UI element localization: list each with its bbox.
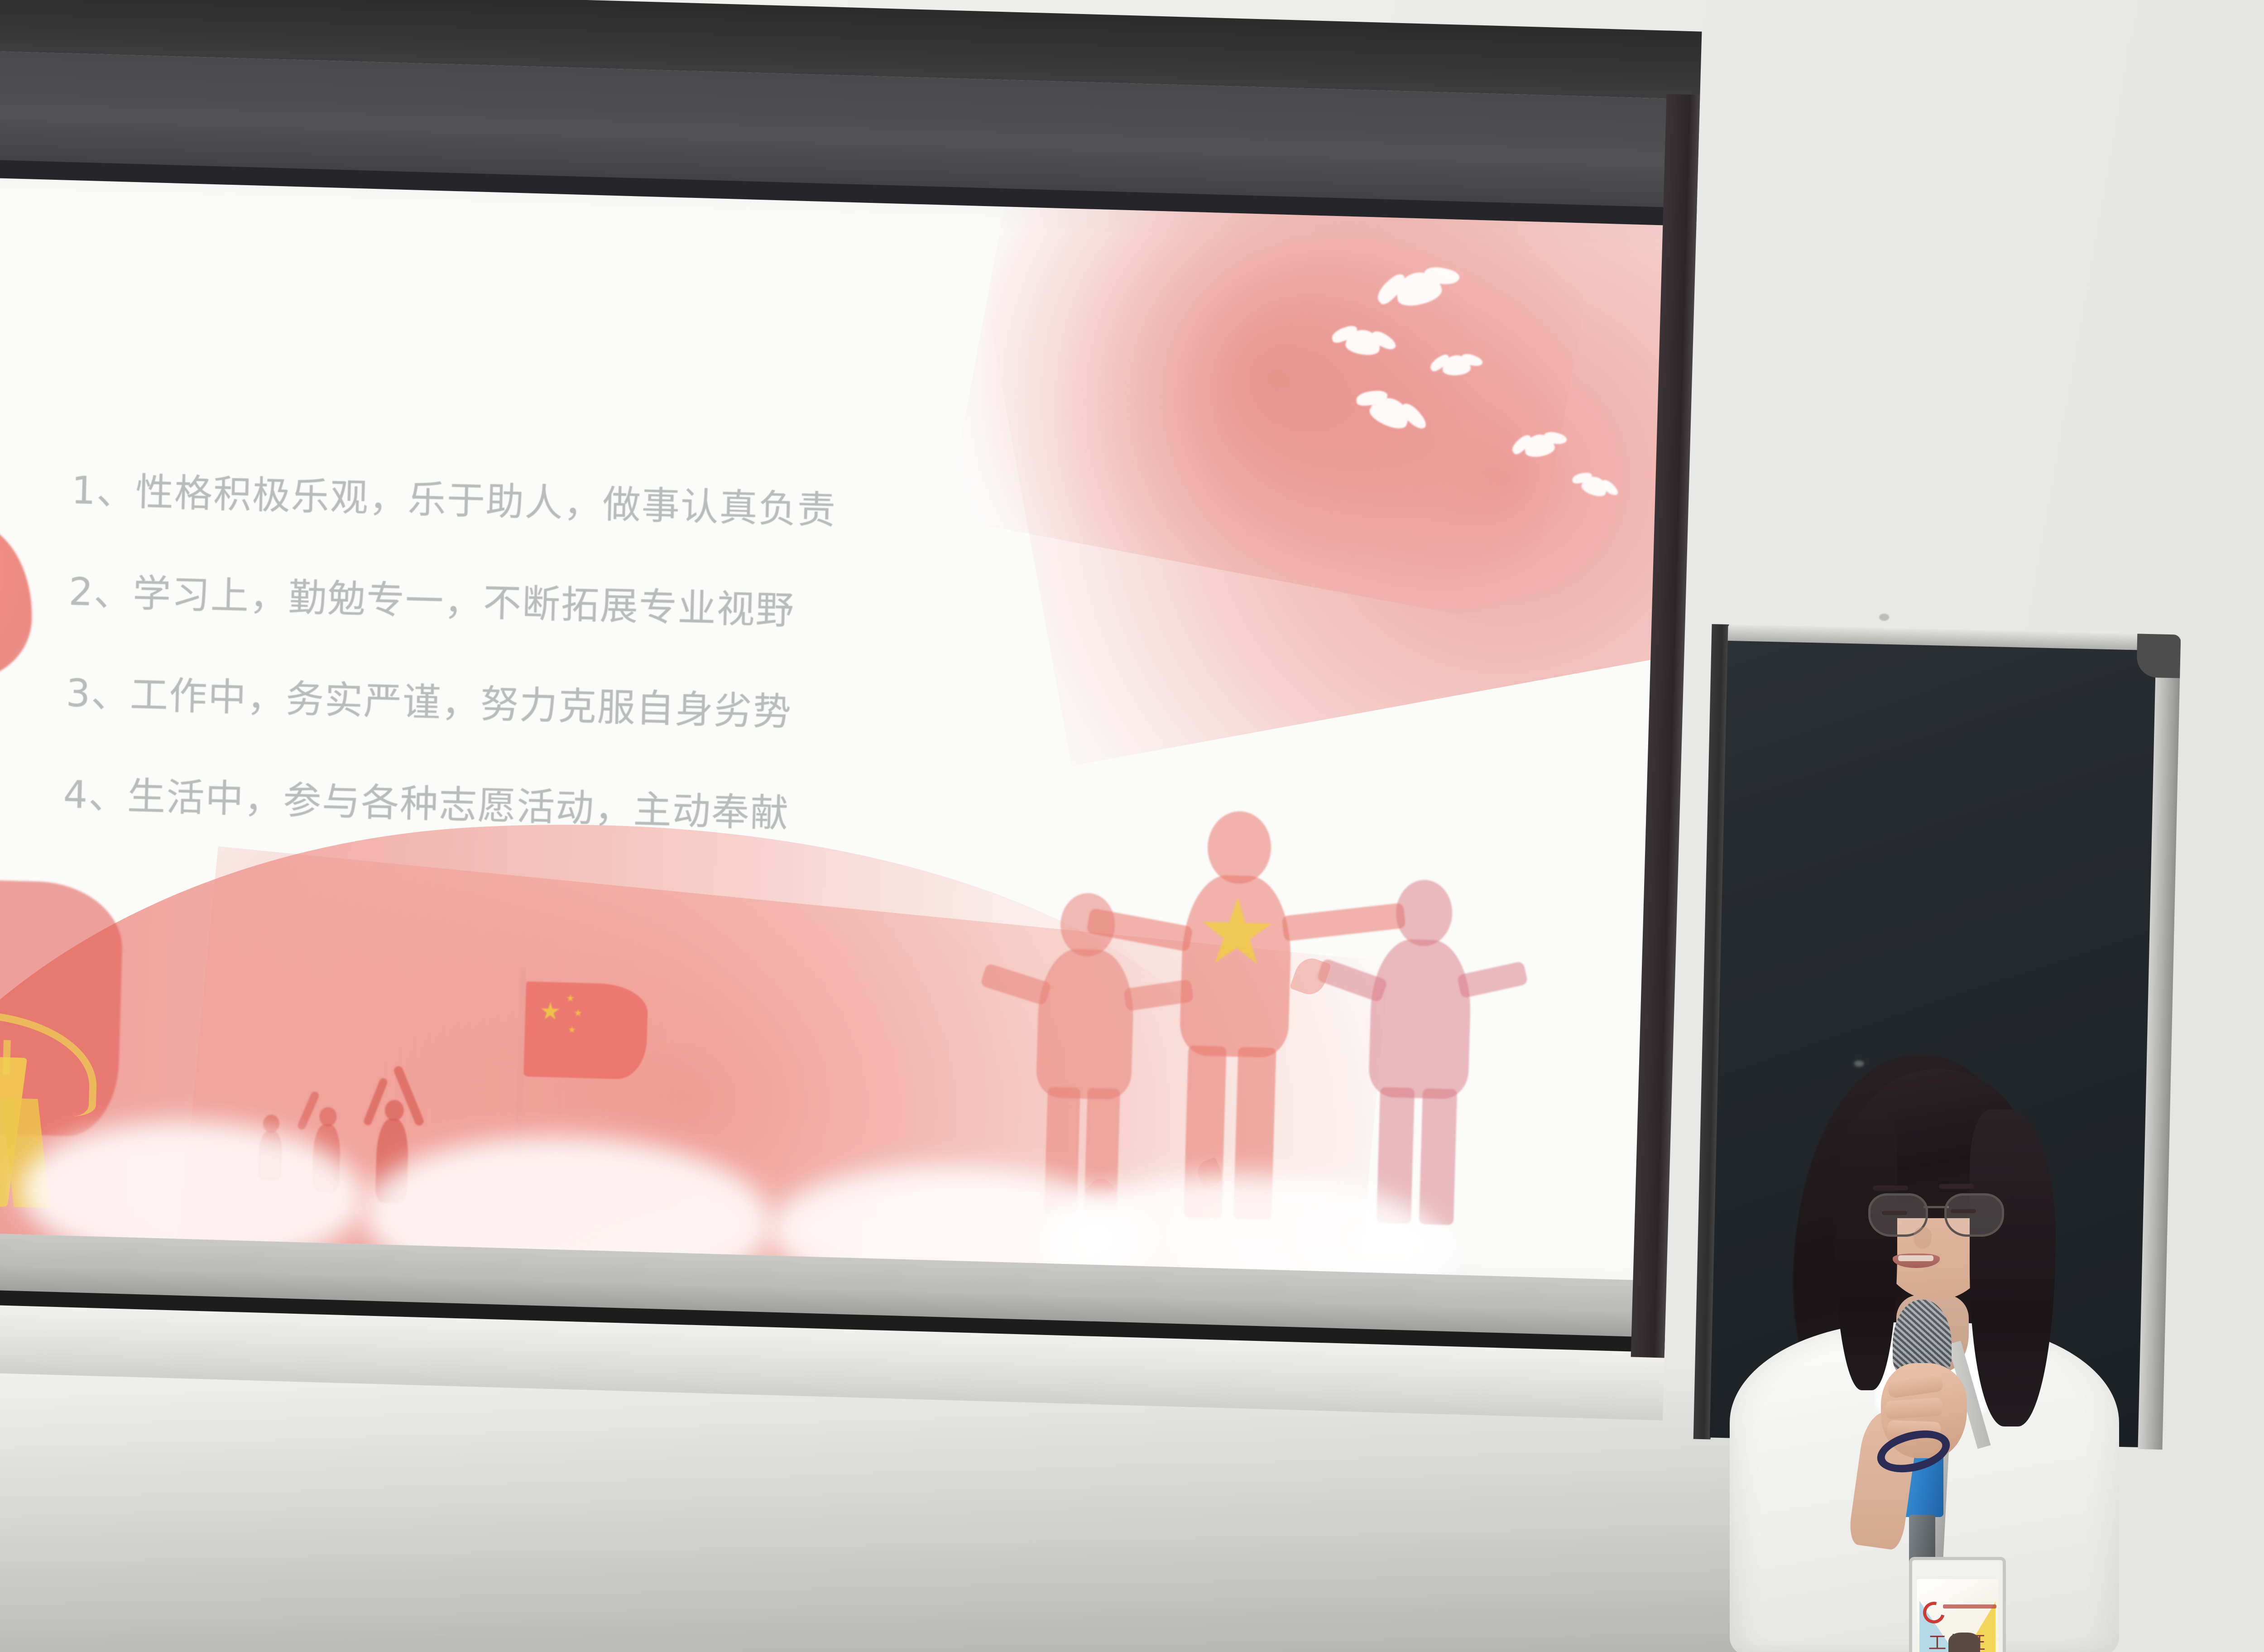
presenter-teeth bbox=[1898, 1255, 1933, 1261]
presenter-eye-left bbox=[1882, 1211, 1907, 1215]
projected-slide: 1、性格积极乐观，乐于助人，做事认真负责 2、学习上，勤勉专一，不断拓展专业视野… bbox=[0, 177, 1696, 1281]
badge-org-name bbox=[1943, 1604, 1996, 1609]
presenter-hair-right bbox=[1970, 1109, 2056, 1426]
flag-star-large bbox=[541, 1002, 560, 1021]
presenter: 工作证 bbox=[1780, 1028, 2096, 1652]
badge-photo bbox=[1948, 1633, 1980, 1652]
flag-star-small bbox=[566, 994, 574, 1002]
projection-screen: 1、性格积极乐观，乐于助人，做事认真负责 2、学习上，勤勉专一，不断拓展专业视野… bbox=[0, 0, 1702, 1417]
slide-bullet-3: 3、工作中，务实严谨，努力克服自身劣势 bbox=[66, 674, 1108, 740]
flag-star-small bbox=[568, 1026, 576, 1033]
finger bbox=[1887, 1373, 1943, 1398]
presenter-brow-right bbox=[1939, 1184, 1974, 1189]
blackboard-corner bbox=[2136, 634, 2181, 678]
glasses-lens-right bbox=[1944, 1193, 2004, 1237]
presenter-nose bbox=[1914, 1227, 1932, 1249]
slide-bullet-list: 1、性格积极乐观，乐于助人，做事认真负责 2、学习上，勤勉专一，不断拓展专业视野… bbox=[63, 471, 1113, 841]
national-flag-icon bbox=[523, 981, 648, 1080]
presenter-eye-right bbox=[1951, 1209, 1976, 1213]
slide-bullet-2: 2、学习上，勤勉专一，不断拓展专业视野 bbox=[68, 572, 1110, 638]
wall-speck bbox=[1879, 614, 1889, 621]
yellow-star-icon bbox=[1200, 896, 1274, 970]
id-badge-card: 工作证 bbox=[1917, 1579, 1998, 1652]
presenter-hair-left bbox=[1834, 1109, 1897, 1390]
running-youth-silhouette-right bbox=[1333, 878, 1510, 1226]
presenter-brow-left bbox=[1873, 1186, 1908, 1191]
screenshot-root: 1、性格积极乐观，乐于助人，做事认真负责 2、学习上，勤勉专一，不断拓展专业视野… bbox=[0, 0, 2264, 1652]
finger bbox=[1885, 1397, 1943, 1420]
id-badge: 工作证 bbox=[1909, 1557, 2006, 1652]
slide-artwork: 1、性格积极乐观，乐于助人，做事认真负责 2、学习上，勤勉专一，不断拓展专业视野… bbox=[0, 177, 1696, 1281]
flag-star-small bbox=[574, 1009, 582, 1017]
